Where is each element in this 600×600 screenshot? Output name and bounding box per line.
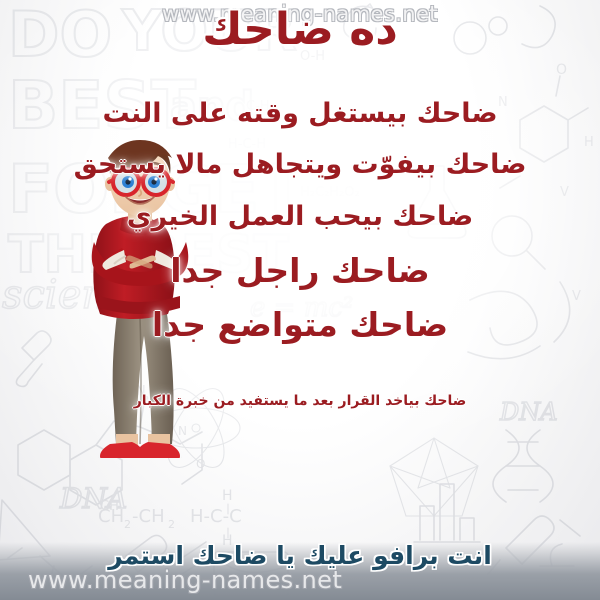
- watermark-bottom: www.meaning-names.net: [0, 566, 600, 594]
- svg-text:O: O: [556, 62, 567, 78]
- trait-line-small: ضاحك بياخد القرار بعد ما يستفيد من خبرة …: [0, 394, 600, 409]
- trait-line: ضاحك راجل جدا: [0, 254, 600, 289]
- trait-line: ضاحك متواضع جدا: [0, 308, 600, 343]
- svg-text:H: H: [222, 488, 233, 504]
- svg-text:-CH: -CH: [132, 506, 165, 527]
- trait-line: ضاحك بيحب العمل الخيري: [0, 203, 600, 231]
- svg-text:CH: CH: [98, 506, 124, 527]
- page-title: ده ضاحك: [0, 8, 600, 52]
- trait-line: ضاحك بيستغل وقته على النت: [0, 100, 600, 128]
- svg-text:O: O: [196, 457, 205, 471]
- name-meaning-card: DO YOUR BEST and FORGET THE REST science…: [0, 0, 600, 600]
- trait-list: ضاحك بيستغل وقته على النت ضاحك بيفوّت وي…: [0, 100, 600, 409]
- svg-text:CH: CH: [100, 499, 119, 514]
- svg-text:2: 2: [168, 518, 175, 531]
- svg-text:DNA: DNA: [59, 482, 127, 515]
- svg-text:2: 2: [124, 518, 131, 531]
- svg-text:H-C-C: H-C-C: [190, 506, 242, 527]
- shoe-right: [136, 442, 181, 458]
- trait-line: ضاحك بيفوّت ويتجاهل مالا يستحق: [0, 151, 600, 179]
